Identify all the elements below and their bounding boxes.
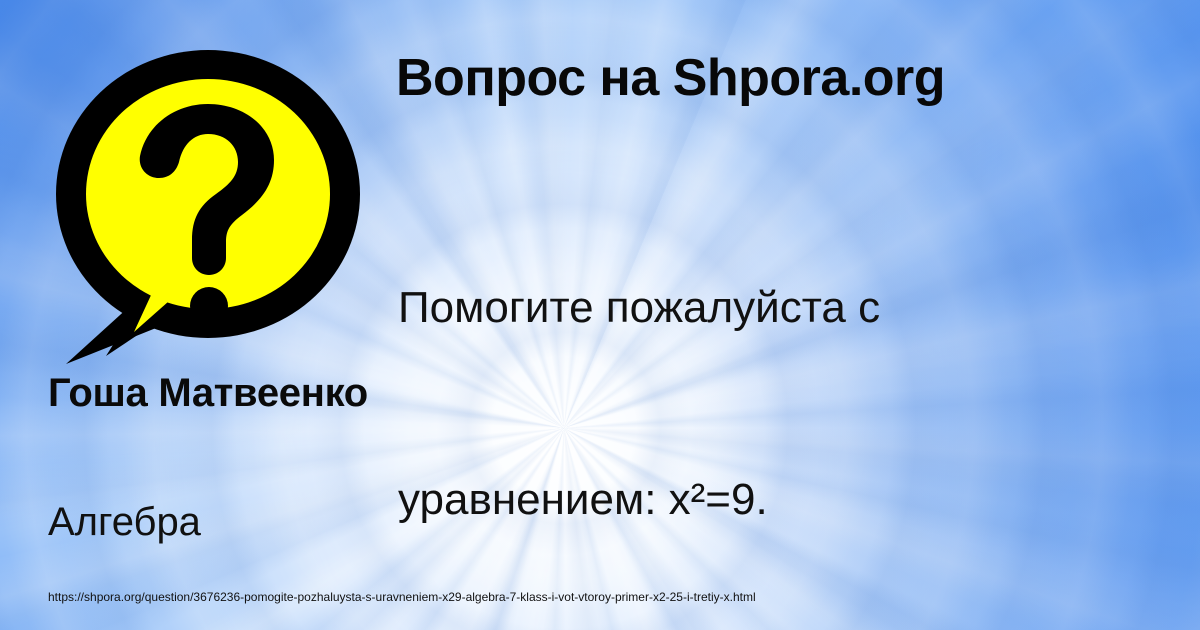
author-name: Гоша Матвеенко [48, 372, 408, 415]
author-subject: Алгебра [48, 500, 388, 544]
card-content: Гоша Матвеенко Алгебра Вопрос на Shpora.… [0, 0, 1200, 630]
page-title: Вопрос на Shpora.org [396, 48, 945, 108]
question-speech-bubble-icon [46, 44, 370, 364]
question-line: Помогите пожалуйста с [398, 276, 1200, 340]
source-url[interactable]: https://shpora.org/question/3676236-pomo… [48, 590, 756, 604]
question-text: Помогите пожалуйста с уравнением: x²=9. … [398, 148, 1200, 630]
question-share-card: Гоша Матвеенко Алгебра Вопрос на Shpora.… [0, 0, 1200, 630]
question-line: уравнением: x²=9. [398, 468, 1200, 532]
